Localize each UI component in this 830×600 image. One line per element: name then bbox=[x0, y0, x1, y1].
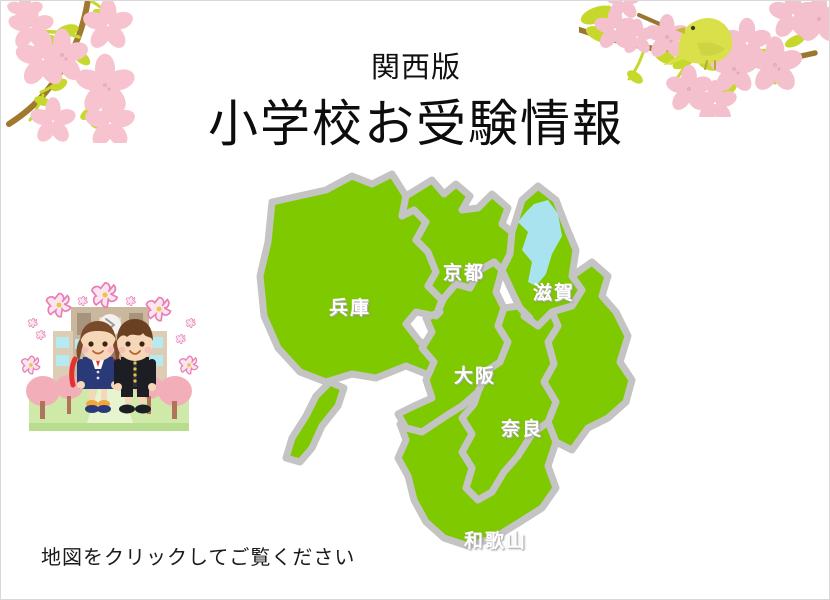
kansai-region-map[interactable]: 兵庫 京都 滋賀 大阪 奈良 和歌山 bbox=[256, 166, 656, 576]
page-title: 小学校お受験情報 bbox=[1, 95, 830, 153]
page-root: 関西版 小学校お受験情報 bbox=[0, 0, 830, 600]
school-children-illustration bbox=[13, 273, 205, 445]
awaji-island[interactable] bbox=[286, 382, 344, 462]
map-label-wakayama[interactable]: 和歌山 bbox=[464, 531, 527, 553]
map-label-hyogo[interactable]: 兵庫 bbox=[329, 298, 371, 320]
boy-figure bbox=[114, 319, 156, 414]
map-label-nara[interactable]: 奈良 bbox=[501, 419, 543, 441]
page-subtitle: 関西版 bbox=[1, 51, 830, 85]
map-click-hint: 地図をクリックしてご覧ください bbox=[41, 545, 355, 571]
map-label-shiga[interactable]: 滋賀 bbox=[533, 283, 575, 305]
map-label-kyoto[interactable]: 京都 bbox=[443, 263, 485, 285]
map-label-osaka[interactable]: 大阪 bbox=[454, 366, 496, 388]
girl-figure bbox=[72, 321, 121, 413]
